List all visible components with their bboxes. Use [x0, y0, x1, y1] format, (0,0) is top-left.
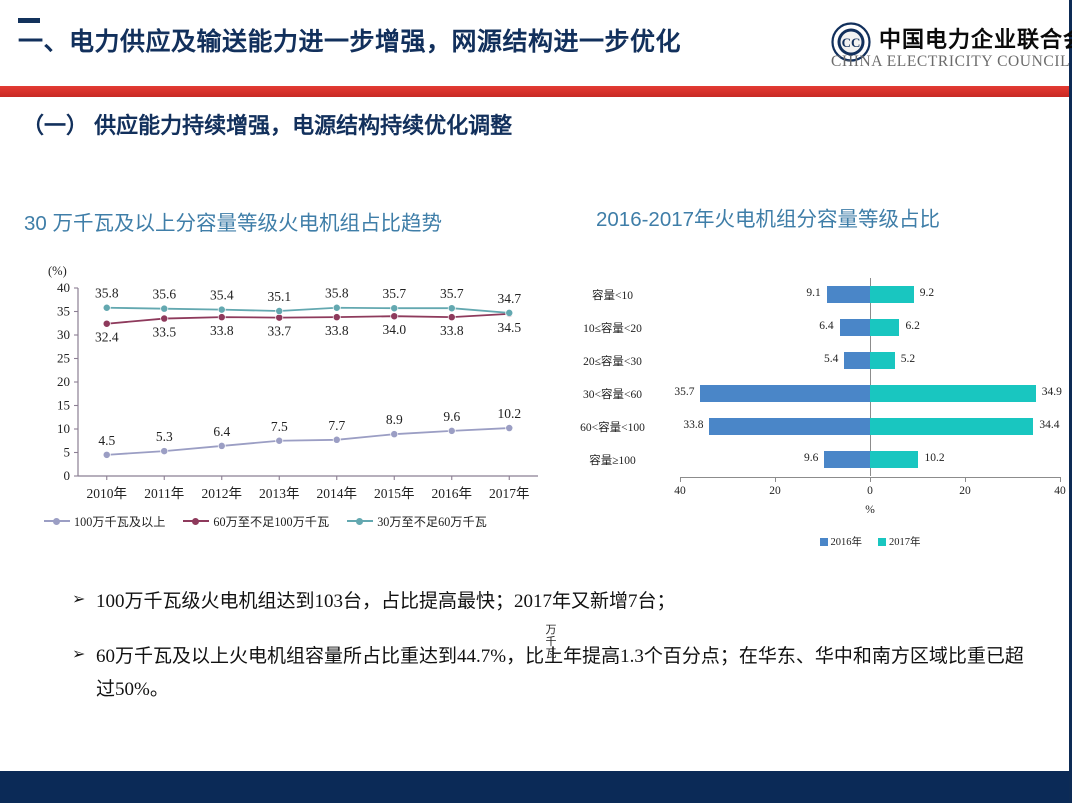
tornado-chart: 万千瓦 容量<109.19.210≤容量<206.46.220≤容量<305.4… [540, 272, 1070, 562]
tornado-track: 9.19.2 [680, 278, 1060, 311]
tornado-row: 10≤容量<206.46.2 [540, 311, 1070, 344]
tornado-category-label: 10≤容量<20 [550, 320, 675, 336]
svg-text:35.8: 35.8 [95, 286, 119, 301]
svg-text:7.7: 7.7 [328, 418, 345, 433]
svg-text:35.1: 35.1 [267, 289, 291, 304]
svg-text:9.6: 9.6 [443, 409, 460, 424]
svg-text:6.4: 6.4 [213, 424, 230, 439]
bullet-arrow-icon: ➢ [72, 640, 96, 670]
svg-text:20: 20 [57, 374, 70, 389]
line-chart: (%) 05101520253035402010年2011年2012年2013年… [30, 264, 550, 534]
line-chart-plot: 05101520253035402010年2011年2012年2013年2014… [30, 264, 550, 514]
legend-label: 60万至不足100万千瓦 [213, 512, 329, 530]
tornado-value-2016: 5.4 [824, 353, 838, 365]
line-legend-item-2: 30万至不足60万千瓦 [347, 512, 487, 530]
legend-marker-dot [356, 518, 363, 525]
svg-text:5.3: 5.3 [156, 429, 173, 444]
tornado-bar-2016 [824, 451, 870, 468]
tornado-tick-label: 40 [674, 485, 686, 497]
tornado-bar-2017 [870, 385, 1036, 402]
tornado-tick-label: 20 [769, 485, 781, 497]
svg-text:2016年: 2016年 [432, 486, 473, 501]
svg-text:2010年: 2010年 [87, 486, 128, 501]
tornado-value-2016: 33.8 [683, 419, 703, 431]
legend-label: 2017年 [889, 534, 921, 549]
line-legend-item-1: 60万至不足100万千瓦 [183, 512, 329, 530]
svg-text:2015年: 2015年 [374, 486, 415, 501]
svg-text:5: 5 [64, 445, 71, 460]
tornado-legend-item-1: 2017年 [878, 534, 921, 549]
tornado-tick-label: 0 [867, 485, 873, 497]
tornado-bar-2017 [870, 418, 1033, 435]
tornado-value-2017: 10.2 [924, 452, 944, 464]
tornado-bar-rows: 容量<109.19.210≤容量<206.46.220≤容量<305.45.23… [540, 278, 1070, 476]
svg-text:10: 10 [57, 421, 70, 436]
svg-text:10.2: 10.2 [497, 406, 521, 421]
line-legend-item-0: 100万千瓦及以上 [44, 512, 165, 530]
tornado-row: 30<容量<6035.734.9 [540, 377, 1070, 410]
svg-text:15: 15 [57, 398, 70, 413]
line-chart-legend: 100万千瓦及以上60万至不足100万千瓦30万至不足60万千瓦 [44, 512, 544, 530]
tornado-row: 20≤容量<305.45.2 [540, 344, 1070, 377]
legend-line-swatch [44, 520, 70, 522]
tornado-tick-label: 40 [1054, 485, 1066, 497]
tornado-category-label: 20≤容量<30 [550, 353, 675, 369]
svg-text:40: 40 [57, 280, 70, 295]
legend-label: 30万至不足60万千瓦 [377, 512, 487, 530]
tornado-row: 60<容量<10033.834.4 [540, 410, 1070, 443]
legend-color-swatch [820, 538, 828, 546]
footer-bar [0, 771, 1069, 803]
slide: 一、电力供应及输送能力进一步增强，网源结构进一步优化 CC 中国电力企业联合会 … [0, 0, 1072, 803]
tornado-bar-2016 [700, 385, 870, 402]
tornado-bar-2016 [709, 418, 870, 435]
tornado-tick [775, 477, 776, 482]
legend-label: 100万千瓦及以上 [74, 512, 165, 530]
tornado-value-2016: 6.4 [819, 320, 833, 332]
svg-text:34.0: 34.0 [382, 322, 406, 337]
svg-text:33.8: 33.8 [440, 323, 464, 338]
tornado-category-label: 容量<10 [550, 287, 675, 303]
tornado-category-label: 60<容量<100 [550, 419, 675, 435]
svg-text:35: 35 [57, 304, 70, 319]
tornado-tick-label: 20 [959, 485, 971, 497]
legend-label: 2016年 [831, 534, 863, 549]
tornado-bar-2017 [870, 451, 918, 468]
tornado-bar-2016 [840, 319, 870, 336]
tornado-category-label: 30<容量<60 [550, 386, 675, 402]
tornado-tick [1060, 477, 1061, 482]
svg-text:35.7: 35.7 [382, 286, 406, 301]
svg-text:2017年: 2017年 [489, 486, 530, 501]
tornado-value-2016: 9.1 [806, 287, 820, 299]
tornado-category-label: 容量≥100 [550, 452, 675, 468]
tornado-value-2017: 9.2 [920, 287, 934, 299]
tornado-row: 容量≥1009.610.2 [540, 443, 1070, 476]
tornado-value-2017: 34.9 [1042, 386, 1062, 398]
tornado-track: 5.45.2 [680, 344, 1060, 377]
bullet-text: 60万千瓦及以上火电机组容量所占比重达到44.7%，比上年提高1.3个百分点；在… [96, 640, 1032, 706]
tornado-value-2016: 35.7 [674, 386, 694, 398]
tornado-track: 35.734.9 [680, 377, 1060, 410]
svg-text:8.9: 8.9 [386, 412, 403, 427]
tornado-value-2017: 5.2 [901, 353, 915, 365]
tornado-chart-legend: 2016年2017年 [680, 534, 1060, 549]
svg-text:34.5: 34.5 [497, 320, 521, 335]
section-subtitle: （一） 供应能力持续增强，电源结构持续优化调整 [22, 108, 512, 140]
svg-text:33.7: 33.7 [267, 324, 291, 339]
svg-text:2011年: 2011年 [144, 486, 184, 501]
tornado-tick [680, 477, 681, 482]
svg-text:33.5: 33.5 [152, 325, 176, 340]
logo-text-en: CHINA ELECTRICITY COUNCIL [831, 53, 1070, 71]
bullet-arrow-icon: ➢ [72, 585, 96, 615]
slide-header: 一、电力供应及输送能力进一步增强，网源结构进一步优化 CC 中国电力企业联合会 … [0, 0, 1069, 88]
svg-text:35.6: 35.6 [152, 287, 176, 302]
svg-text:2014年: 2014年 [317, 486, 358, 501]
svg-text:0: 0 [64, 468, 71, 483]
svg-text:33.8: 33.8 [210, 323, 234, 338]
tornado-bar-2016 [827, 286, 870, 303]
logo-text-cn: 中国电力企业联合会 [879, 22, 1072, 54]
tornado-x-axis-label: % [680, 504, 1060, 516]
tornado-bar-2017 [870, 286, 914, 303]
svg-text:35.8: 35.8 [325, 286, 349, 301]
bullet-item: ➢ 100万千瓦级火电机组达到103台，占比提高最快；2017年又新增7台； [72, 585, 1032, 618]
legend-marker-dot [53, 518, 60, 525]
legend-color-swatch [878, 538, 886, 546]
bullet-item: ➢ 60万千瓦及以上火电机组容量所占比重达到44.7%，比上年提高1.3个百分点… [72, 640, 1032, 706]
tornado-track: 9.610.2 [680, 443, 1060, 476]
organization-logo: CC 中国电力企业联合会 CHINA ELECTRICITY COUNCIL [831, 20, 1063, 82]
svg-text:7.5: 7.5 [271, 419, 288, 434]
svg-text:2013年: 2013年 [259, 486, 300, 501]
left-chart-title: 30 万千瓦及以上分容量等级火电机组占比趋势 [24, 206, 442, 236]
tornado-value-2017: 6.2 [905, 320, 919, 332]
svg-text:32.4: 32.4 [95, 330, 119, 345]
bullet-list: ➢ 100万千瓦级火电机组达到103台，占比提高最快；2017年又新增7台； ➢… [72, 585, 1032, 728]
legend-line-swatch [183, 520, 209, 522]
tornado-value-2017: 34.4 [1039, 419, 1059, 431]
svg-text:35.4: 35.4 [210, 288, 234, 303]
svg-text:CC: CC [842, 35, 861, 50]
tornado-tick [965, 477, 966, 482]
tornado-track: 33.834.4 [680, 410, 1060, 443]
tornado-tick [870, 477, 871, 482]
svg-text:2012年: 2012年 [202, 486, 243, 501]
tornado-bar-2016 [844, 352, 870, 369]
tornado-track: 6.46.2 [680, 311, 1060, 344]
tornado-legend-item-0: 2016年 [820, 534, 863, 549]
tornado-bar-2017 [870, 319, 899, 336]
svg-text:30: 30 [57, 327, 70, 342]
svg-text:4.5: 4.5 [98, 433, 115, 448]
right-chart-title: 2016-2017年火电机组分容量等级占比 [596, 202, 940, 232]
tornado-value-2016: 9.6 [804, 452, 818, 464]
svg-text:25: 25 [57, 351, 70, 366]
legend-line-swatch [347, 520, 373, 522]
svg-text:34.7: 34.7 [497, 291, 521, 306]
legend-marker-dot [192, 518, 199, 525]
svg-text:35.7: 35.7 [440, 286, 464, 301]
page-title: 一、电力供应及输送能力进一步增强，网源结构进一步优化 [18, 22, 818, 58]
tornado-bar-2017 [870, 352, 895, 369]
header-red-divider [0, 86, 1069, 97]
svg-text:33.8: 33.8 [325, 323, 349, 338]
tornado-row: 容量<109.19.2 [540, 278, 1070, 311]
bullet-text: 100万千瓦级火电机组达到103台，占比提高最快；2017年又新增7台； [96, 585, 676, 618]
